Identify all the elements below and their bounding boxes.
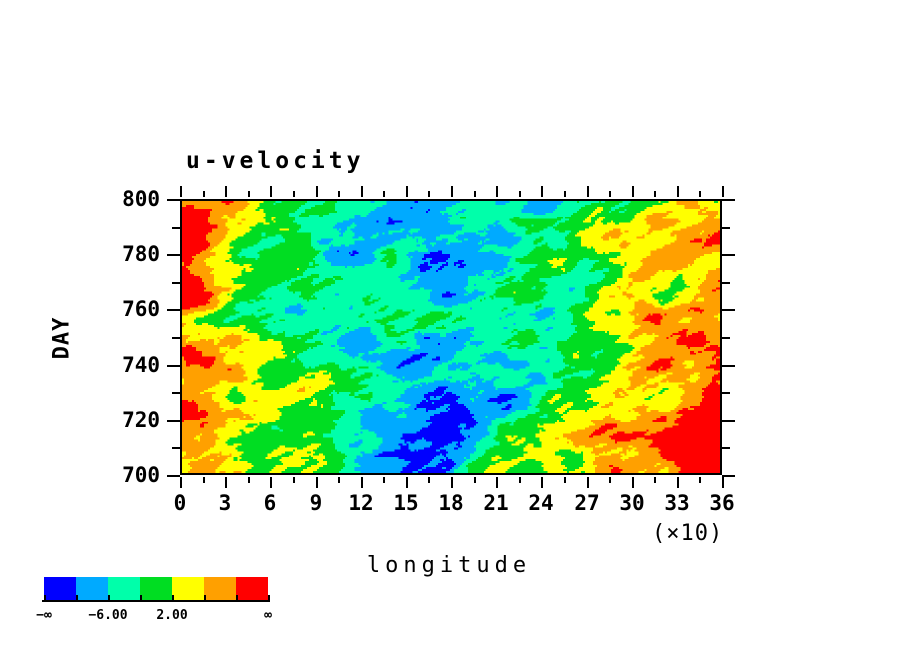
y-tick-label: 700 <box>55 463 160 487</box>
x-tick-label: 0 <box>174 491 187 515</box>
axis-tick <box>428 191 430 197</box>
colorbar-tick <box>44 595 46 602</box>
colorbar-segment <box>76 577 108 600</box>
axis-tick <box>722 199 735 201</box>
axis-tick <box>654 477 656 483</box>
axis-tick <box>451 186 453 197</box>
axis-tick <box>225 477 227 488</box>
axis-tick <box>172 392 180 394</box>
axis-tick <box>172 227 180 229</box>
axis-tick <box>293 191 295 197</box>
axis-tick <box>541 186 543 197</box>
x-tick-label: 24 <box>528 491 553 515</box>
x-tick-label: 33 <box>664 491 689 515</box>
axis-tick <box>383 191 385 197</box>
x-tick-label: 21 <box>483 491 508 515</box>
colorbar-tick <box>108 595 110 602</box>
axis-tick <box>203 191 205 197</box>
axis-tick <box>248 477 250 483</box>
axis-tick <box>677 477 679 488</box>
axis-tick <box>722 392 730 394</box>
colorbar-tick <box>76 595 78 602</box>
colorbar-label: −∞ <box>36 608 52 623</box>
axis-tick <box>293 477 295 483</box>
axis-tick <box>609 477 611 483</box>
colorbar-label: 2.00 <box>156 608 187 623</box>
y-axis-title: DAY <box>50 317 75 360</box>
y-tick-label: 800 <box>55 187 160 211</box>
axis-tick <box>172 337 180 339</box>
axis-tick <box>167 199 180 201</box>
colorbar-label: −6.00 <box>88 608 127 623</box>
colorbar-segment <box>172 577 204 600</box>
chart-figure: u-velocity 03691215182124273033367007207… <box>0 0 904 654</box>
axis-tick <box>167 309 180 311</box>
axis-tick <box>338 477 340 483</box>
axis-tick <box>316 186 318 197</box>
axis-tick <box>722 282 730 284</box>
axis-tick <box>361 477 363 488</box>
axis-tick <box>167 420 180 422</box>
colorbar-label: ∞ <box>264 608 272 623</box>
x-tick-label: 18 <box>438 491 463 515</box>
axis-tick <box>428 477 430 483</box>
axis-tick <box>496 186 498 197</box>
axis-tick <box>587 186 589 197</box>
axis-tick <box>406 477 408 488</box>
heatmap-field <box>182 201 720 473</box>
x-tick-label: 36 <box>709 491 734 515</box>
axis-tick <box>172 447 180 449</box>
colorbar-tick <box>172 595 174 602</box>
axis-tick <box>406 186 408 197</box>
axis-tick <box>609 191 611 197</box>
chart-title: u-velocity <box>186 148 364 174</box>
x-axis-title: longitude <box>367 553 531 578</box>
axis-tick <box>167 254 180 256</box>
x-tick-label: 9 <box>310 491 323 515</box>
axis-tick <box>699 477 701 483</box>
x-axis-multiplier: (×10) <box>652 521 723 546</box>
axis-tick <box>587 477 589 488</box>
axis-tick <box>541 477 543 488</box>
axis-tick <box>496 477 498 488</box>
axis-tick <box>451 477 453 488</box>
axis-tick <box>677 186 679 197</box>
axis-tick <box>722 227 730 229</box>
axis-tick <box>270 477 272 488</box>
axis-tick <box>722 447 730 449</box>
x-tick-label: 12 <box>348 491 373 515</box>
axis-tick <box>180 186 182 197</box>
axis-tick <box>722 337 730 339</box>
axis-tick <box>564 191 566 197</box>
y-tick-label: 780 <box>55 242 160 266</box>
axis-tick <box>632 477 634 488</box>
axis-tick <box>180 477 182 488</box>
axis-tick <box>699 191 701 197</box>
axis-tick <box>316 477 318 488</box>
colorbar-tick <box>140 595 142 602</box>
colorbar-segment <box>236 577 268 600</box>
heatmap-plot-area <box>180 199 722 475</box>
colorbar-tick <box>204 595 206 602</box>
axis-tick <box>167 475 180 477</box>
axis-tick <box>722 254 735 256</box>
axis-tick <box>338 191 340 197</box>
colorbar-tick <box>268 595 270 602</box>
x-tick-label: 6 <box>264 491 277 515</box>
axis-tick <box>172 282 180 284</box>
colorbar-segment <box>204 577 236 600</box>
axis-tick <box>722 477 724 488</box>
x-tick-label: 30 <box>619 491 644 515</box>
axis-tick <box>361 186 363 197</box>
axis-tick <box>474 477 476 483</box>
axis-tick <box>248 191 250 197</box>
axis-tick <box>722 475 735 477</box>
axis-tick <box>225 186 227 197</box>
axis-tick <box>203 477 205 483</box>
x-tick-label: 3 <box>219 491 232 515</box>
x-tick-label: 27 <box>574 491 599 515</box>
colorbar-segment <box>140 577 172 600</box>
axis-tick <box>383 477 385 483</box>
x-tick-label: 15 <box>393 491 418 515</box>
y-tick-label: 720 <box>55 408 160 432</box>
axis-tick <box>722 309 735 311</box>
colorbar-tick <box>236 595 238 602</box>
axis-tick <box>519 477 521 483</box>
axis-tick <box>722 186 724 197</box>
colorbar-segment <box>44 577 76 600</box>
axis-tick <box>270 186 272 197</box>
axis-tick <box>632 186 634 197</box>
axis-tick <box>564 477 566 483</box>
axis-tick <box>474 191 476 197</box>
axis-tick <box>722 365 735 367</box>
colorbar-segment <box>108 577 140 600</box>
axis-tick <box>654 191 656 197</box>
axis-tick <box>722 420 735 422</box>
axis-tick <box>167 365 180 367</box>
axis-tick <box>519 191 521 197</box>
